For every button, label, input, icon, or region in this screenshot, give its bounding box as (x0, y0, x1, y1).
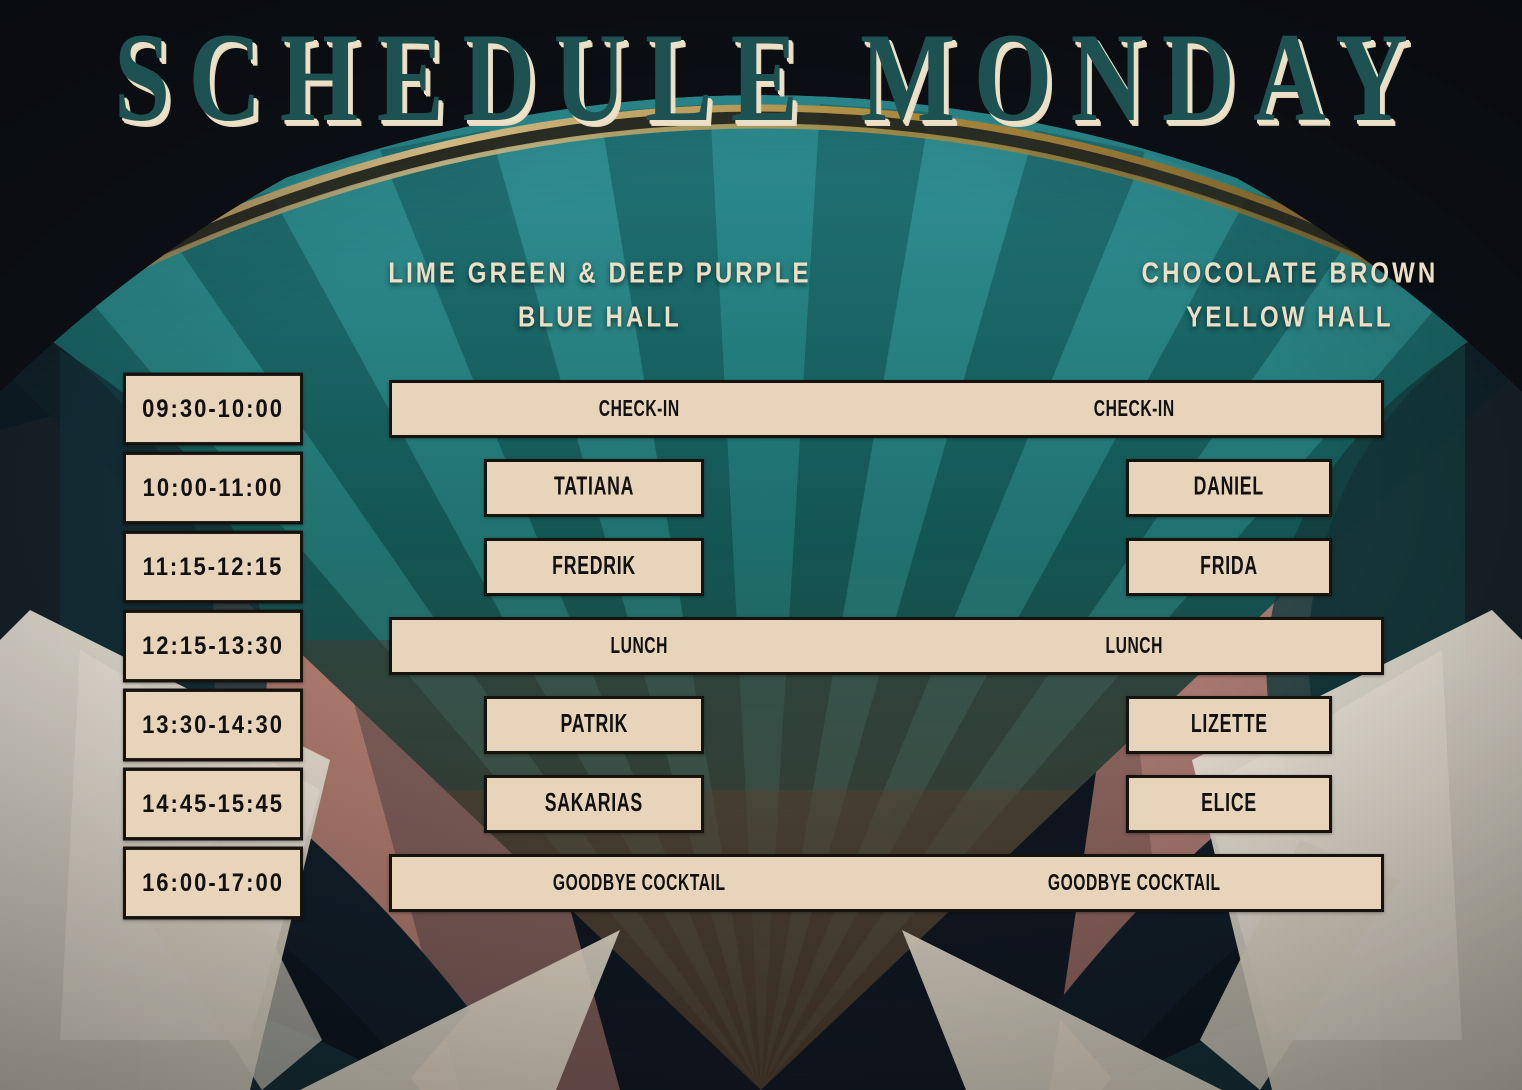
time-slot: 13:30-14:30 (123, 689, 303, 762)
hall-heading-right: CHOCOLATE BROWN YELLOW HALL (1040, 252, 1522, 340)
session-right: FRIDA (1126, 538, 1332, 596)
schedule-poster: SCHEDULE MONDAY LIME GREEN & DEEP PURPLE… (0, 0, 1522, 1090)
session-left-label: SAKARIAS (545, 789, 643, 819)
session-right: DANIEL (1126, 459, 1332, 517)
session-right: LIZETTE (1126, 696, 1332, 754)
time-slot-label: 10:00-11:00 (143, 473, 284, 503)
hall-right-line1: CHOCOLATE BROWN (1142, 258, 1439, 290)
session-shared: CHECK-IN CHECK-IN (389, 380, 1384, 438)
session-right-label: ELICE (1201, 789, 1257, 819)
time-slot-label: 12:15-13:30 (142, 631, 284, 661)
session-right-label: DANIEL (1194, 473, 1264, 503)
schedule-row: 12:15-13:30 LUNCH LUNCH (0, 608, 1522, 686)
schedule-row: 13:30-14:30 PATRIK LIZETTE (0, 687, 1522, 765)
time-slot-label: 13:30-14:30 (142, 710, 284, 740)
time-slot-label: 16:00-17:00 (142, 868, 284, 898)
session-shared: LUNCH LUNCH (389, 617, 1384, 675)
session-left-label: FREDRIK (552, 552, 636, 582)
schedule-grid: 09:30-10:00 CHECK-IN CHECK-IN 10:00-11:0… (0, 371, 1522, 924)
session-right-label: GOODBYE COCKTAIL (906, 870, 1361, 897)
session-left-label: CHECK-IN (412, 396, 867, 423)
schedule-row: 16:00-17:00 GOODBYE COCKTAIL GOODBYE COC… (0, 845, 1522, 923)
session-left: PATRIK (484, 696, 704, 754)
session-right-label: LUNCH (906, 633, 1361, 660)
time-slot: 09:30-10:00 (123, 373, 303, 446)
time-slot-label: 09:30-10:00 (142, 394, 284, 424)
schedule-row: 14:45-15:45 SAKARIAS ELICE (0, 766, 1522, 844)
hall-left-line2: BLUE HALL (355, 296, 845, 340)
schedule-row: 11:15-12:15 FREDRIK FRIDA (0, 529, 1522, 607)
hall-heading-left: LIME GREEN & DEEP PURPLE BLUE HALL (355, 252, 845, 340)
session-left-label: PATRIK (560, 710, 628, 740)
session-left: SAKARIAS (484, 775, 704, 833)
session-right-label: LIZETTE (1191, 710, 1268, 740)
session-left: TATIANA (484, 459, 704, 517)
schedule-row: 10:00-11:00 TATIANA DANIEL (0, 450, 1522, 528)
time-slot-label: 14:45-15:45 (142, 789, 284, 819)
session-left: FREDRIK (484, 538, 704, 596)
hall-right-line2: YELLOW HALL (1040, 296, 1522, 340)
time-slot: 12:15-13:30 (123, 610, 303, 683)
hall-headings: LIME GREEN & DEEP PURPLE BLUE HALL CHOCO… (0, 252, 1522, 342)
session-right-label: CHECK-IN (906, 396, 1361, 423)
session-left-label: GOODBYE COCKTAIL (412, 870, 867, 897)
page-title: SCHEDULE MONDAY (23, 10, 1499, 147)
session-left-label: LUNCH (412, 633, 867, 660)
session-left-label: TATIANA (554, 473, 634, 503)
session-right-label: FRIDA (1200, 552, 1258, 582)
session-shared: GOODBYE COCKTAIL GOODBYE COCKTAIL (389, 854, 1384, 912)
poster-content: SCHEDULE MONDAY LIME GREEN & DEEP PURPLE… (0, 0, 1522, 1090)
time-slot-label: 11:15-12:15 (143, 552, 284, 582)
time-slot: 10:00-11:00 (123, 452, 303, 525)
session-right: ELICE (1126, 775, 1332, 833)
hall-left-line1: LIME GREEN & DEEP PURPLE (388, 258, 811, 290)
time-slot: 11:15-12:15 (123, 531, 303, 604)
schedule-row: 09:30-10:00 CHECK-IN CHECK-IN (0, 371, 1522, 449)
time-slot: 16:00-17:00 (123, 847, 303, 920)
time-slot: 14:45-15:45 (123, 768, 303, 841)
